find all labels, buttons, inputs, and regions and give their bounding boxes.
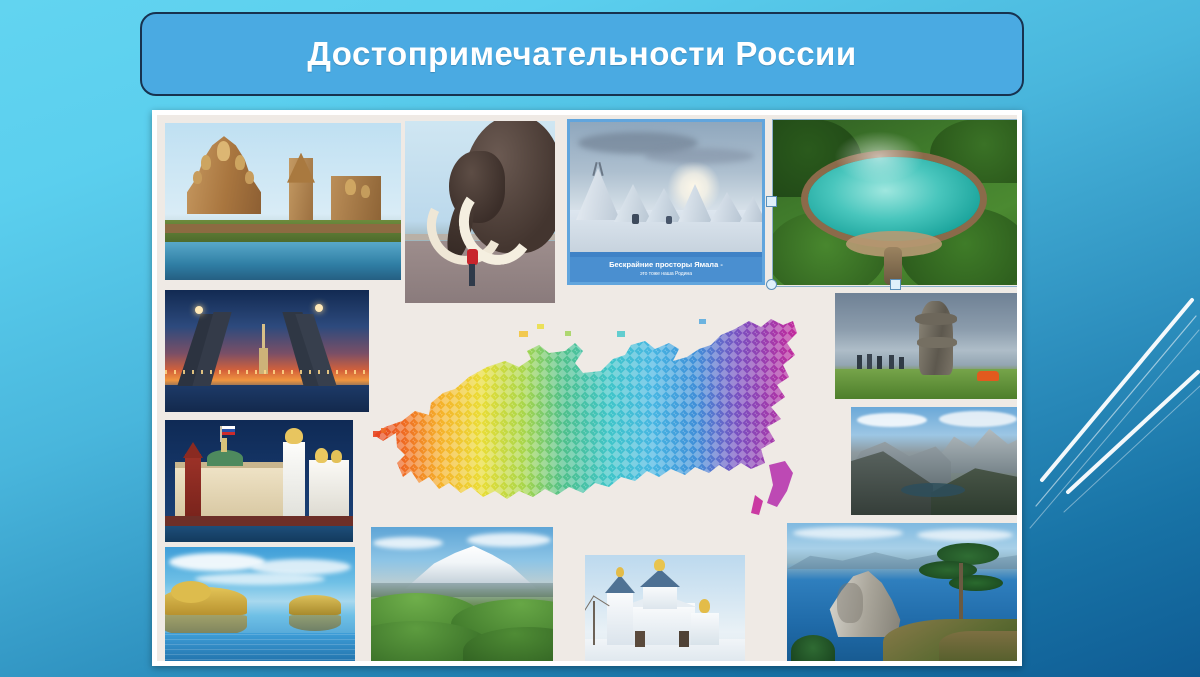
yamal-caption-line1: Бескрайние просторы Ямала - — [572, 260, 760, 270]
russia-mosaic-map — [369, 315, 799, 530]
photo-hotspring[interactable]: Термальный источник — [772, 119, 1017, 285]
photo-pillar[interactable]: Столбы выветривания Маньпупунёр — [835, 293, 1017, 399]
photo-valley[interactable]: Горная долина — [851, 407, 1017, 515]
collage-canvas: Кижи — деревянные церкви Памятник мамонт… — [157, 115, 1017, 661]
photo-yamal[interactable]: Бескрайние просторы Ямала - это тоже наш… — [567, 119, 765, 285]
photo-bridge[interactable]: Разводной мост, Санкт-Петербург — [165, 290, 369, 412]
yamal-caption: Бескрайние просторы Ямала - это тоже наш… — [570, 257, 762, 282]
selection-handle-bottom[interactable] — [890, 279, 901, 290]
presentation-slide: Достопримечательности России — [0, 0, 1200, 677]
photo-lake[interactable]: Осеннее озеро — [165, 547, 355, 661]
photo-mammoth[interactable]: Памятник мамонту — [405, 121, 555, 303]
photo-kremlin[interactable]: Московский Кремль — [165, 420, 353, 542]
photo-church[interactable]: Зимний храм — [585, 555, 745, 661]
page-title: Достопримечательности России — [307, 35, 856, 73]
collage-picture-frame[interactable]: Кижи — деревянные церкви Памятник мамонт… — [152, 110, 1022, 666]
slide-title-box[interactable]: Достопримечательности России — [140, 12, 1024, 96]
selection-handle-left[interactable] — [766, 196, 777, 207]
photo-kizhi[interactable]: Кижи — деревянные церкви — [165, 123, 401, 280]
photo-hills[interactable]: Зелёные холмы и снежная гора — [371, 527, 553, 661]
selection-handle-bottom-left[interactable] — [766, 279, 777, 290]
yamal-caption-line2: это тоже наша Родина — [572, 270, 760, 278]
photo-baikal[interactable]: Байкал — скала Шаманка — [787, 523, 1017, 661]
